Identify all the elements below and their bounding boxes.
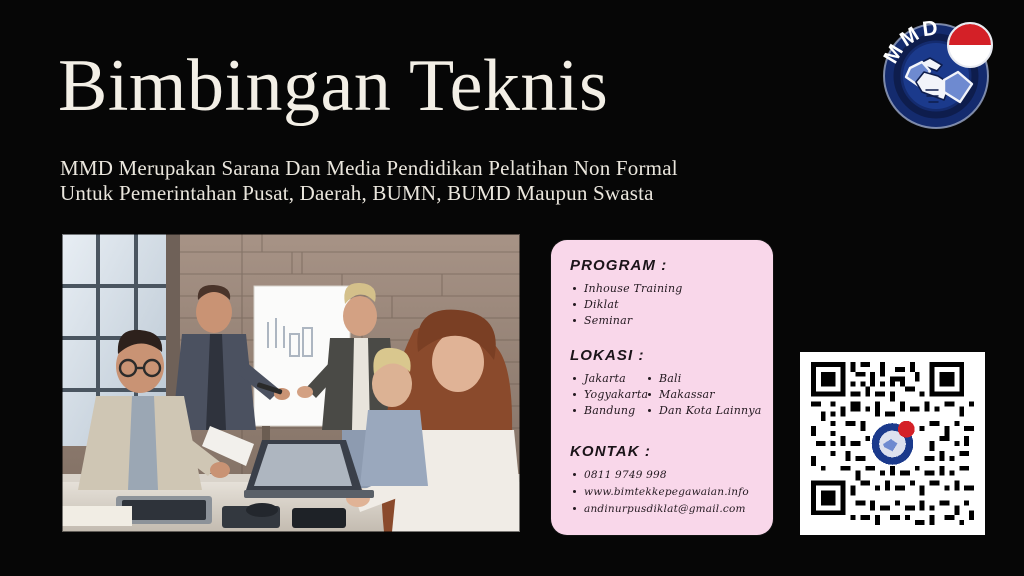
lokasi-list-left: Jakarta Yogyakarta Bandung	[570, 371, 645, 419]
list-item: Makassar	[645, 387, 762, 403]
info-card: PROGRAM : Inhouse Training Diklat Semina…	[551, 240, 773, 535]
lokasi-section: LOKASI : Jakarta Yogyakarta Bandung Bali…	[570, 347, 762, 419]
mmd-logo: MMD	[872, 10, 1000, 138]
page-title: Bimbingan Teknis	[58, 44, 608, 128]
subtitle-line-1: MMD Merupakan Sarana Dan Media Pendidika…	[60, 156, 678, 181]
training-photo-illustration	[62, 234, 520, 532]
list-item: Bali	[645, 371, 762, 387]
lokasi-columns: Jakarta Yogyakarta Bandung Bali Makassar…	[570, 371, 762, 419]
contact-email[interactable]: andinurpusdiklat@gmail.com	[570, 501, 749, 518]
program-section: PROGRAM : Inhouse Training Diklat Semina…	[570, 257, 682, 329]
list-item: Dan Kota Lainnya	[645, 403, 762, 419]
subtitle: MMD Merupakan Sarana Dan Media Pendidika…	[60, 156, 678, 206]
program-heading: PROGRAM :	[570, 257, 682, 274]
qr-code-matrix	[800, 352, 985, 535]
list-item: Bandung	[570, 403, 645, 419]
mmd-logo-icon: MMD	[872, 10, 1000, 138]
subtitle-line-2: Untuk Pemerintahan Pusat, Daerah, BUMN, …	[60, 181, 678, 206]
list-item: Diklat	[570, 297, 682, 313]
list-item: Yogyakarta	[570, 387, 645, 403]
lokasi-heading: LOKASI :	[570, 347, 762, 364]
program-list: Inhouse Training Diklat Seminar	[570, 281, 682, 329]
lokasi-list-right: Bali Makassar Dan Kota Lainnya	[645, 371, 762, 419]
list-item: Jakarta	[570, 371, 645, 387]
training-photo	[62, 234, 520, 532]
kontak-heading: KONTAK :	[570, 443, 749, 460]
kontak-section: KONTAK : 0811 9749 998 www.bimtekkepegaw…	[570, 443, 749, 518]
kontak-list: 0811 9749 998 www.bimtekkepegawaian.info…	[570, 467, 749, 518]
list-item: Seminar	[570, 313, 682, 329]
contact-phone: 0811 9749 998	[570, 467, 749, 484]
poster-canvas: Bimbingan Teknis MMD Merupakan Sarana Da…	[0, 0, 1024, 576]
qr-code[interactable]	[800, 352, 985, 535]
list-item: Inhouse Training	[570, 281, 682, 297]
contact-website[interactable]: www.bimtekkepegawaian.info	[570, 484, 749, 501]
